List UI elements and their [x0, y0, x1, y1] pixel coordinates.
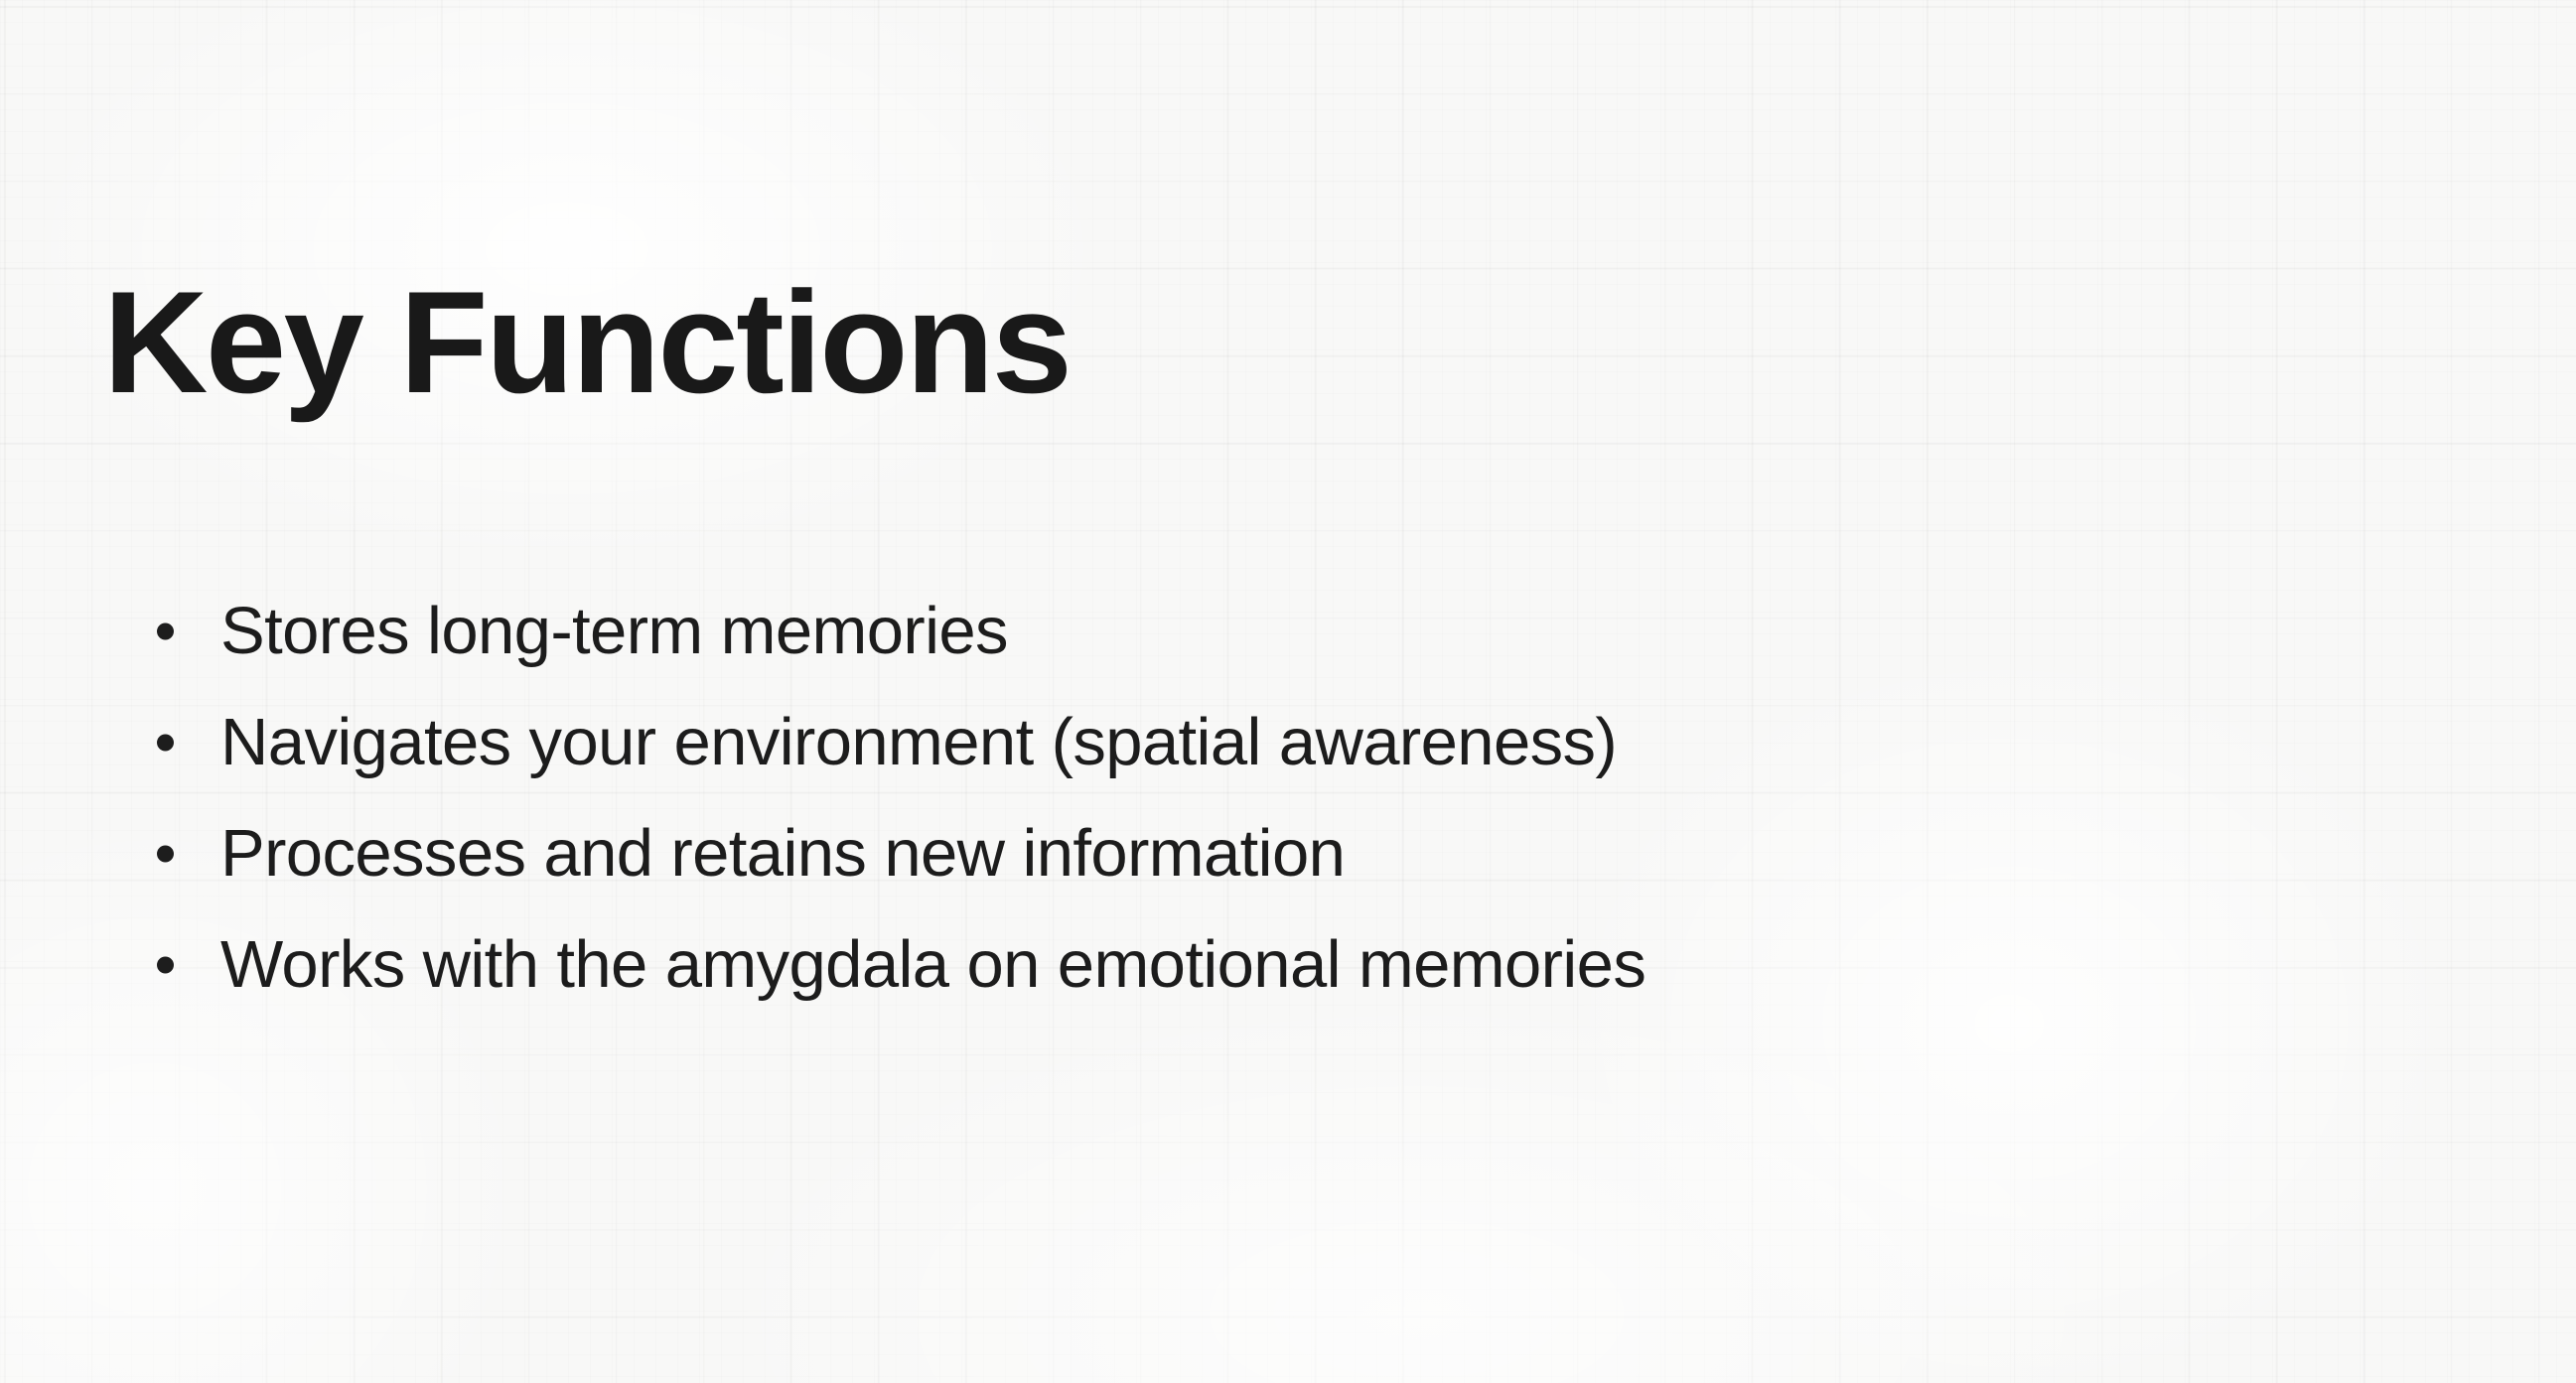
list-item-label: Navigates your environment (spatial awar… — [220, 687, 1617, 798]
list-item-label: Stores long-term memories — [220, 576, 1008, 687]
key-functions-list: Stores long-term memories Navigates your… — [149, 576, 1646, 1021]
list-item: Works with the amygdala on emotional mem… — [149, 909, 1646, 1021]
page-title: Key Functions — [103, 270, 1070, 415]
presentation-slide: Key Functions Stores long-term memories … — [0, 0, 2576, 1383]
list-item: Navigates your environment (spatial awar… — [149, 687, 1646, 798]
list-item-label: Works with the amygdala on emotional mem… — [220, 909, 1646, 1021]
list-item-label: Processes and retains new information — [220, 798, 1345, 909]
slide-content: Key Functions Stores long-term memories … — [0, 0, 2576, 1383]
list-item: Stores long-term memories — [149, 576, 1646, 687]
list-item: Processes and retains new information — [149, 798, 1646, 909]
